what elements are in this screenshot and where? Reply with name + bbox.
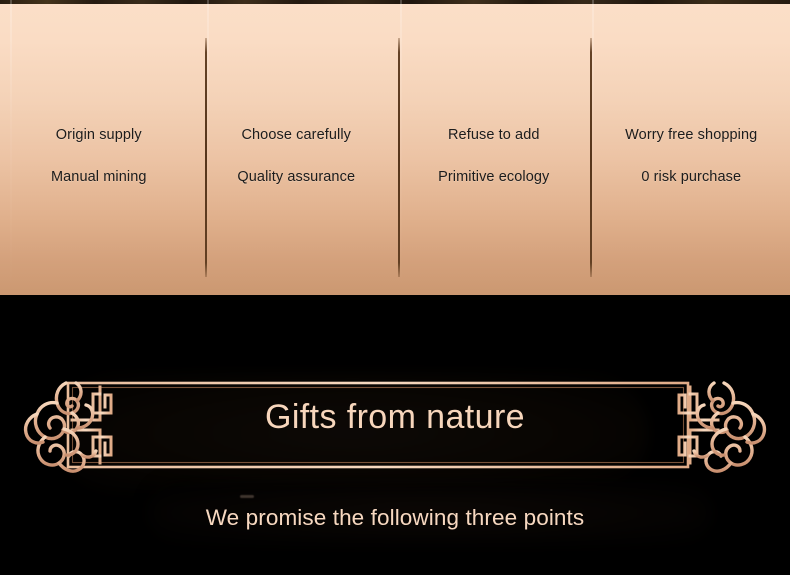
feature-subline: Quality assurance: [237, 170, 355, 185]
feature-column-4: Worry free shopping 0 risk purchase: [593, 0, 790, 295]
hero-title: Gifts from nature: [0, 400, 790, 434]
feature-subline: Manual mining: [51, 170, 147, 185]
feature-subline: 0 risk purchase: [641, 170, 741, 185]
render-artifact: [240, 495, 254, 498]
feature-strip: Origin supply Manual mining Choose caref…: [0, 0, 790, 295]
feature-column-3: Refuse to add Primitive ecology: [395, 0, 593, 295]
feature-headline: Refuse to add: [448, 128, 540, 143]
feature-column-1: Origin supply Manual mining: [0, 0, 198, 295]
hero-subtitle: We promise the following three points: [0, 507, 790, 530]
feature-headline: Origin supply: [56, 128, 142, 143]
feature-columns: Origin supply Manual mining Choose caref…: [0, 0, 790, 295]
feature-subline: Primitive ecology: [438, 170, 549, 185]
feature-column-2: Choose carefully Quality assurance: [198, 0, 396, 295]
feature-headline: Worry free shopping: [625, 128, 757, 143]
feature-headline: Choose carefully: [241, 128, 351, 143]
promo-banner: Origin supply Manual mining Choose caref…: [0, 0, 790, 575]
hero-section: Gifts from nature We promise the followi…: [0, 295, 790, 575]
